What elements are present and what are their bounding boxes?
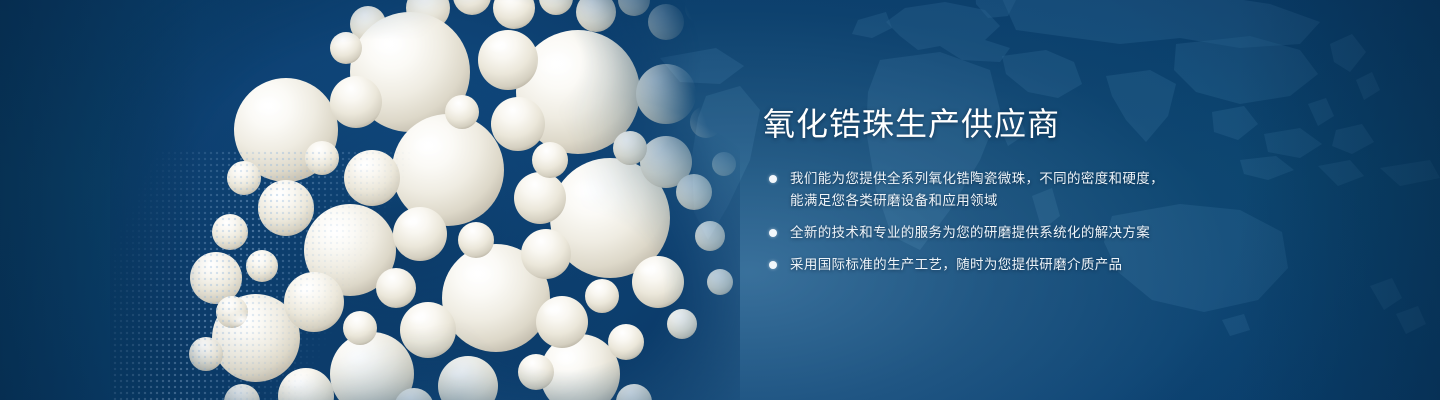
list-item-line-1: 采用国际标准的生产工艺，随时为您提供研磨介质产品	[790, 257, 1122, 272]
list-item-line-2: 能满足您各类研磨设备和应用领域	[790, 190, 1363, 212]
feature-list: 我们能为您提供全系列氧化锆陶瓷微珠，不同的密度和硬度， 能满足您各类研磨设备和应…	[763, 168, 1363, 276]
list-item: 采用国际标准的生产工艺，随时为您提供研磨介质产品	[763, 254, 1363, 276]
page-title: 氧化锆珠生产供应商	[763, 104, 1363, 144]
list-item-line-1: 我们能为您提供全系列氧化锆陶瓷微珠，不同的密度和硬度，	[790, 171, 1164, 186]
bullet-dot-icon	[769, 229, 777, 237]
bullet-dot-icon	[769, 175, 777, 183]
list-item-line-1: 全新的技术和专业的服务为您的研磨提供系统化的解决方案	[790, 225, 1150, 240]
hero-banner: 氧化锆珠生产供应商 我们能为您提供全系列氧化锆陶瓷微珠，不同的密度和硬度， 能满…	[0, 0, 1440, 400]
banner-copy: 氧化锆珠生产供应商 我们能为您提供全系列氧化锆陶瓷微珠，不同的密度和硬度， 能满…	[763, 104, 1363, 276]
list-item: 全新的技术和专业的服务为您的研磨提供系统化的解决方案	[763, 222, 1363, 244]
bullet-dot-icon	[769, 261, 777, 269]
list-item: 我们能为您提供全系列氧化锆陶瓷微珠，不同的密度和硬度， 能满足您各类研磨设备和应…	[763, 168, 1363, 212]
